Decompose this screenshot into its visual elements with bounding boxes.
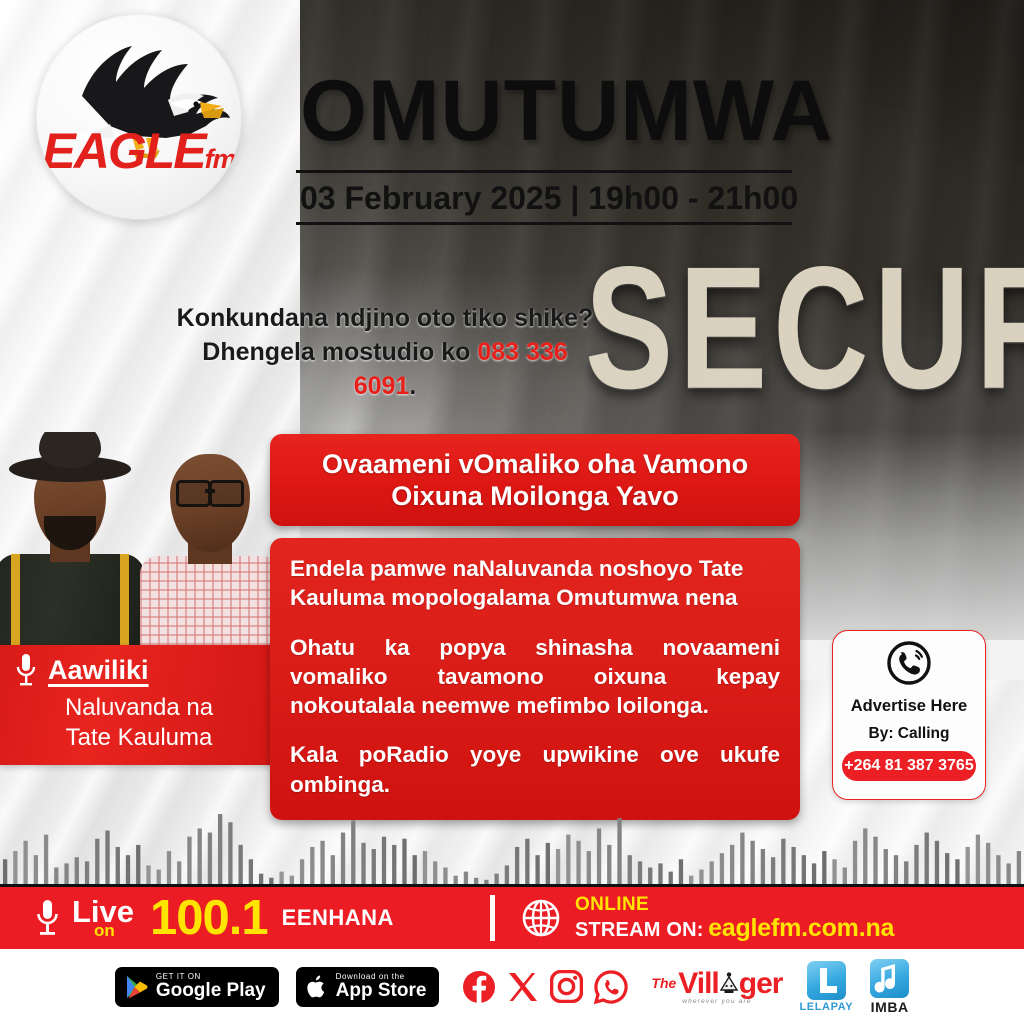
presenter-name-line2: Tate Kauluma — [0, 723, 278, 753]
villager-word-a: Vill — [678, 969, 718, 999]
whatsapp-icon[interactable] — [594, 970, 628, 1004]
glasses-lens-left — [176, 480, 211, 507]
imba-label: IMBA — [870, 999, 909, 1015]
poster-canvas: SECURITY EAGLEfm OMUTUMWA 03 February 20… — [0, 0, 1024, 1024]
advertise-subtitle: By: Calling — [833, 725, 985, 743]
title-rule-top — [296, 170, 792, 173]
lelapay-logo: LELAPAY — [799, 961, 853, 1013]
presenters-panel-header: Aawiliki — [14, 653, 149, 687]
live-on-label: Live on — [72, 897, 134, 940]
apple-icon — [307, 975, 328, 999]
app-store-big: App Store — [336, 981, 427, 1000]
jacket-stripe-left — [11, 554, 20, 654]
lelapay-label: LELAPAY — [799, 1001, 853, 1013]
app-store-text: Download on the App Store — [336, 973, 427, 1001]
presenter-photo-1 — [0, 438, 146, 654]
google-play-text: GET IT ON Google Play — [156, 973, 266, 1001]
topic-headline-line2: Oixuna Moilonga Yavo — [322, 480, 748, 512]
call-prompt-suffix: . — [409, 372, 416, 400]
google-play-badge[interactable]: GET IT ON Google Play — [115, 967, 279, 1007]
villager-logo: The Vill ger wherever you are — [651, 969, 782, 1005]
show-title: OMUTUMWA — [300, 68, 833, 154]
logo-wordmark: EAGLEfm — [36, 126, 242, 176]
call-prompt: Konkundana ndjino oto tiko shike? Dhenge… — [175, 302, 595, 403]
advertise-icon-wrap — [833, 640, 985, 691]
villager-lamp-icon — [718, 972, 740, 998]
stream-url[interactable]: eaglefm.com.na — [708, 914, 894, 942]
presenters-name-panel: Aawiliki Naluvanda na Tate Kauluma — [0, 645, 278, 765]
presenter-photo-2 — [140, 442, 278, 654]
presenter2-shirt — [140, 556, 278, 654]
title-rule-bottom — [296, 222, 792, 225]
google-play-big: Google Play — [156, 981, 266, 1000]
waveform-bars — [0, 812, 1024, 886]
presenter1-hat-crown — [39, 432, 101, 468]
advertise-box[interactable]: Advertise Here By: Calling +264 81 387 3… — [832, 630, 986, 800]
imba-mark — [870, 959, 909, 998]
music-note-icon — [870, 959, 909, 998]
live-frequency-group: Live on 100.1 EENHANA — [0, 894, 394, 943]
audio-waveform — [0, 812, 1024, 886]
microphone-icon — [34, 898, 60, 938]
phone-ringing-icon — [886, 640, 932, 686]
microphone-icon — [14, 653, 38, 687]
footer-logos: GET IT ON Google Play Download on the Ap… — [0, 949, 1024, 1024]
advertise-phone-pill[interactable]: +264 81 387 3765 — [842, 751, 976, 781]
topic-paragraph-3: Kala poRadio yoye upwikine ove ukufe omb… — [290, 740, 780, 799]
glasses-lens-right — [209, 480, 244, 507]
presenter2-glasses — [176, 480, 244, 502]
call-prompt-line1: Konkundana ndjino oto tiko shike? — [175, 302, 595, 336]
topic-paragraph-1: Endela pamwe naNaluvanda noshoyo Tate Ka… — [290, 554, 780, 613]
x-twitter-icon[interactable] — [507, 971, 539, 1003]
presenter1-jacket — [0, 554, 145, 654]
bar-divider — [490, 895, 495, 941]
live-stream-bar: Live on 100.1 EENHANA ONLINE STREAM ON: … — [0, 887, 1024, 949]
topic-headline-card: Ovaameni vOmaliko oha Vamono Oixuna Moil… — [270, 434, 800, 526]
stream-on-row: STREAM ON: eaglefm.com.na — [575, 915, 894, 941]
glasses-bridge — [205, 489, 215, 493]
imba-logo: IMBA — [870, 959, 909, 1015]
call-prompt-line2: Dhengela mostudio ko 083 336 6091. — [175, 336, 595, 404]
transmitter-city: EENHANA — [282, 905, 394, 931]
villager-wordmark: The Vill ger — [651, 969, 782, 999]
lelapay-l-glyph — [807, 961, 846, 1000]
presenters-names: Naluvanda na Tate Kauluma — [0, 693, 278, 753]
stream-on-label: STREAM ON: — [575, 919, 704, 941]
globe-icon — [521, 898, 561, 938]
call-prompt-prefix: Dhengela mostudio ko — [202, 338, 477, 366]
show-datetime: 03 February 2025 | 19h00 - 21h00 — [300, 180, 798, 217]
presenter-photos — [0, 432, 278, 654]
online-label: ONLINE — [575, 895, 894, 915]
app-store-badge[interactable]: Download on the App Store — [296, 967, 440, 1007]
villager-word-b: ger — [739, 969, 783, 999]
topic-headline-text: Ovaameni vOmaliko oha Vamono Oixuna Moil… — [306, 448, 764, 513]
presenter-name-line1: Naluvanda na — [0, 693, 278, 723]
topic-body-card: Endela pamwe naNaluvanda noshoyo Tate Ka… — [270, 538, 800, 820]
villager-the: The — [651, 975, 676, 991]
eagle-icon — [36, 14, 242, 220]
facebook-icon[interactable] — [462, 970, 496, 1004]
social-icons — [462, 970, 628, 1004]
online-stream-group[interactable]: ONLINE STREAM ON: eaglefm.com.na — [521, 895, 894, 941]
background-security-word: SECURITY — [585, 228, 1024, 427]
jacket-stripe-right — [120, 554, 129, 654]
google-play-icon — [126, 975, 148, 999]
topic-headline-line1: Ovaameni vOmaliko oha Vamono — [322, 448, 748, 480]
lelapay-mark — [807, 961, 846, 1000]
topic-paragraph-2: Ohatu ka popya shinasha novaameni vomali… — [290, 633, 780, 721]
instagram-icon[interactable] — [550, 970, 583, 1003]
advertise-title: Advertise Here — [833, 697, 985, 716]
presenters-panel-title: Aawiliki — [48, 655, 149, 686]
stream-text: ONLINE STREAM ON: eaglefm.com.na — [575, 895, 894, 941]
eaglefm-logo: EAGLEfm — [36, 14, 242, 220]
frequency-value: 100.1 — [150, 894, 268, 943]
